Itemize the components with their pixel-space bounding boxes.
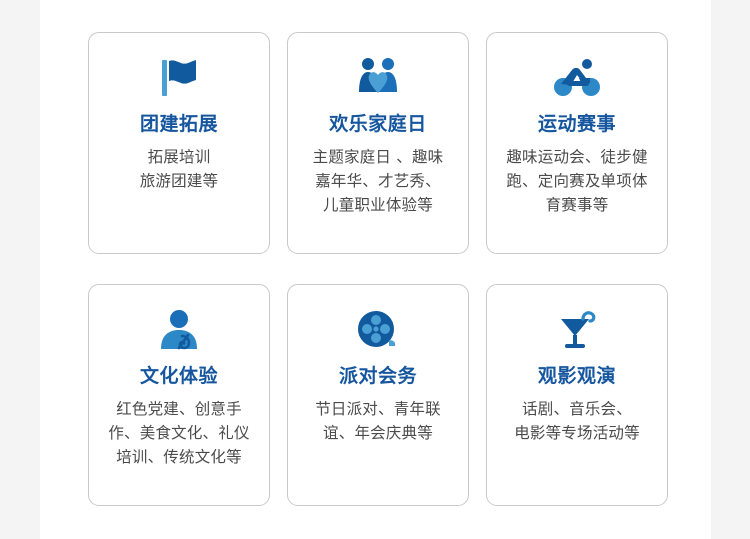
service-card-family-day[interactable]: 欢乐家庭日 主题家庭日 、趣味 嘉年华、才艺秀、 儿童职业体验等 (287, 32, 469, 254)
page-root: 团建拓展 拓展培训 旅游团建等 欢乐家庭日 (0, 0, 750, 539)
service-card-show-viewing[interactable]: 观影观演 话剧、音乐会、 电影等专场活动等 (486, 284, 668, 506)
card-description-line: 儿童职业体验等 (298, 193, 458, 217)
card-description-line: 培训、传统文化等 (99, 445, 259, 469)
service-card-grid: 团建拓展 拓展培训 旅游团建等 欢乐家庭日 (88, 32, 668, 506)
service-card-culture-experience[interactable]: 文化体验 红色党建、创意手 作、美食文化、礼仪 培训、传统文化等 (88, 284, 270, 506)
card-title: 派对会务 (339, 365, 417, 388)
card-title: 欢乐家庭日 (329, 113, 427, 136)
cocktail-icon (547, 307, 607, 353)
card-description-line: 主题家庭日 、趣味 (298, 145, 458, 169)
card-description-line: 节日派对、青年联 (298, 397, 458, 421)
card-description-line: 育赛事等 (497, 193, 657, 217)
card-description-line: 电影等专场活动等 (497, 421, 657, 445)
film-reel-icon (348, 307, 408, 353)
card-description-line: 嘉年华、才艺秀、 (298, 169, 458, 193)
family-icon (348, 55, 408, 101)
card-description: 节日派对、青年联 谊、年会庆典等 (298, 397, 458, 445)
service-card-sports-events[interactable]: 运动赛事 趣味运动会、徒步健 跑、定向赛及单项体 育赛事等 (486, 32, 668, 254)
service-card-team-building[interactable]: 团建拓展 拓展培训 旅游团建等 (88, 32, 270, 254)
card-description-line: 拓展培训 (99, 145, 259, 169)
card-title: 团建拓展 (140, 113, 218, 136)
card-title: 运动赛事 (538, 113, 616, 136)
card-description-line: 趣味运动会、徒步健 (497, 145, 657, 169)
card-description: 拓展培训 旅游团建等 (99, 145, 259, 193)
card-title: 观影观演 (538, 365, 616, 388)
card-description: 趣味运动会、徒步健 跑、定向赛及单项体 育赛事等 (497, 145, 657, 218)
flag-icon (149, 55, 209, 101)
card-description: 红色党建、创意手 作、美食文化、礼仪 培训、传统文化等 (99, 397, 259, 470)
card-description-line: 跑、定向赛及单项体 (497, 169, 657, 193)
card-description: 主题家庭日 、趣味 嘉年华、才艺秀、 儿童职业体验等 (298, 145, 458, 218)
card-description-line: 旅游团建等 (99, 169, 259, 193)
cyclist-icon (547, 55, 607, 101)
card-description-line: 作、美食文化、礼仪 (99, 421, 259, 445)
content-panel: 团建拓展 拓展培训 旅游团建等 欢乐家庭日 (40, 0, 711, 539)
card-description-line: 谊、年会庆典等 (298, 421, 458, 445)
card-description: 话剧、音乐会、 电影等专场活动等 (497, 397, 657, 445)
card-description-line: 红色党建、创意手 (99, 397, 259, 421)
card-description-line: 话剧、音乐会、 (497, 397, 657, 421)
person-emblem-icon (149, 307, 209, 353)
service-card-party-events[interactable]: 派对会务 节日派对、青年联 谊、年会庆典等 (287, 284, 469, 506)
card-title: 文化体验 (140, 365, 218, 388)
